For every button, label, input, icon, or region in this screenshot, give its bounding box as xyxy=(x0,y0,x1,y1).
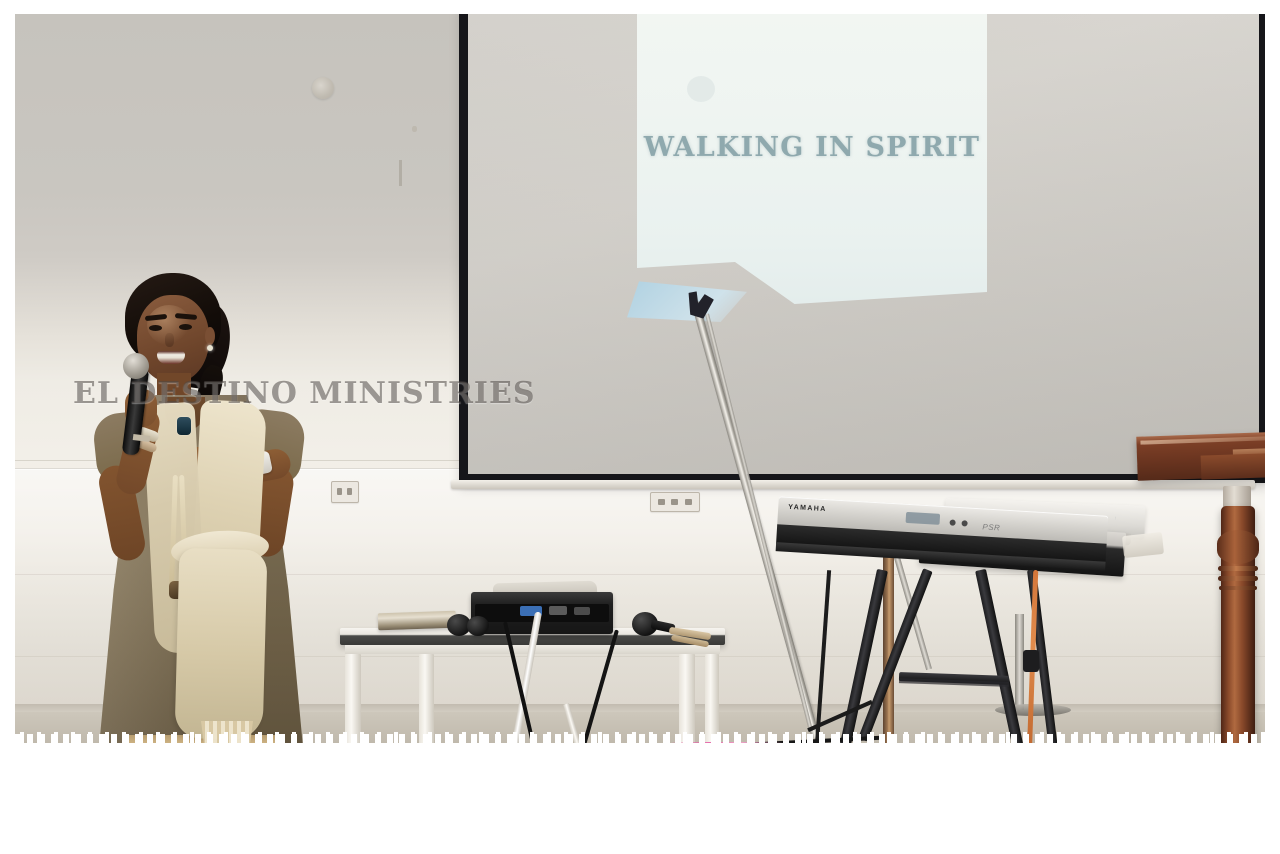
audio-mixer xyxy=(471,592,613,634)
earring xyxy=(207,345,213,351)
cable-clip xyxy=(1023,650,1039,672)
nose xyxy=(165,333,174,347)
wall-bracket xyxy=(1122,532,1164,558)
keyboard-display xyxy=(906,512,941,525)
slide-ghost-spot xyxy=(687,76,715,102)
slide-title-text: WALKING IN SPIRIT xyxy=(637,132,987,163)
pillar-ring xyxy=(1218,566,1258,571)
mixer-port xyxy=(574,607,590,615)
mixer-port xyxy=(549,606,567,615)
ear xyxy=(205,327,215,345)
wall-scuff xyxy=(399,160,402,186)
mouth xyxy=(157,351,185,364)
necklace-pendant xyxy=(177,417,191,435)
pillar-bulb xyxy=(1217,530,1259,564)
caption-bar: General Camp, Pravaham, October 2018 El … xyxy=(0,756,1280,854)
projector-screen-bottom-bar xyxy=(451,480,1255,489)
book-on-table xyxy=(378,611,457,631)
pillar-ring xyxy=(1219,586,1257,590)
wooden-shelf-lower xyxy=(1201,452,1265,479)
photograph-area: WALKING IN SPIRIT YAMAHA xyxy=(0,0,1280,756)
wall-socket xyxy=(650,492,700,512)
photo-watermark: EL DESTINO MINISTRIES xyxy=(73,376,536,411)
torn-edge-base xyxy=(15,743,1265,750)
speaker-person xyxy=(77,269,337,750)
eye xyxy=(179,324,192,330)
event-photograph: WALKING IN SPIRIT YAMAHA xyxy=(15,14,1265,750)
keyboard-model-label: PSR xyxy=(982,522,1000,532)
pillar-ring xyxy=(1218,576,1258,581)
keyboard-brand-label: YAMAHA xyxy=(788,504,827,513)
wall-spot xyxy=(412,126,417,132)
microphone-head xyxy=(467,616,489,636)
wall-fixture-icon xyxy=(312,77,334,99)
eye xyxy=(149,325,162,331)
photo-card: WALKING IN SPIRIT YAMAHA xyxy=(0,0,1280,854)
dupatta-drape xyxy=(175,548,268,740)
wood-highlight xyxy=(1140,435,1265,444)
